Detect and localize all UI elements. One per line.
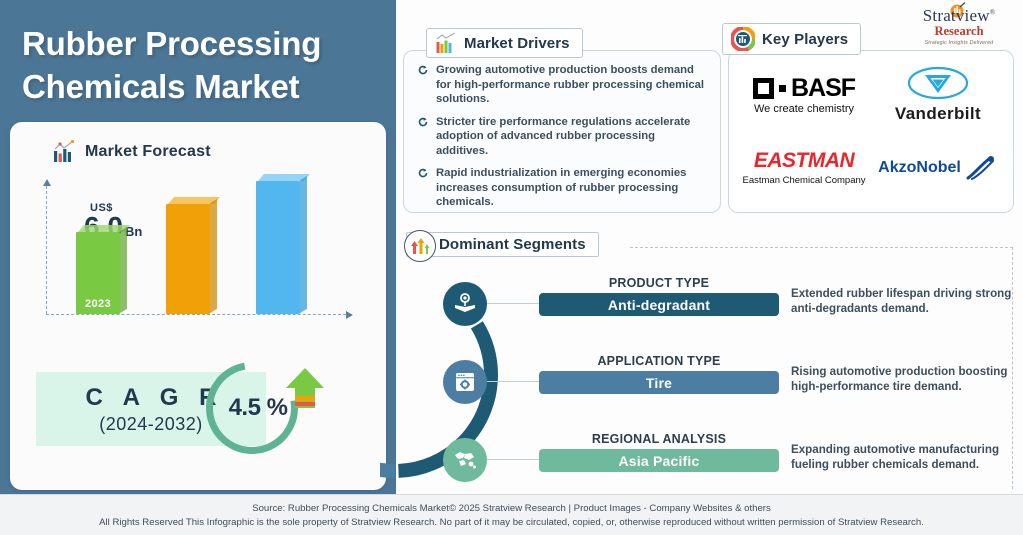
settings-window-icon [443, 360, 487, 404]
brand-sub: Research [903, 24, 1015, 39]
chart-bar-mid [166, 204, 210, 314]
growth-arrows-glyph [410, 237, 430, 255]
world-map-glyph [451, 448, 479, 472]
refresh-bullet-icon [418, 65, 428, 75]
segment-value-pill[interactable]: Anti-degradant [539, 293, 779, 316]
segment-connector [487, 381, 539, 382]
key-players-badge-label: Key Players [762, 31, 848, 48]
basf-square-icon [753, 78, 774, 99]
bar-chart-colored-icon [435, 32, 457, 54]
market-drivers-badge-label: Market Drivers [464, 35, 570, 52]
segment-connector [487, 303, 539, 304]
segment-label: REGIONAL ANALYSIS [539, 432, 779, 446]
forecast-chart: US$ 6.0 Bn 2023 [32, 180, 362, 340]
segment-connector [487, 459, 539, 460]
market-drivers-badge[interactable]: Market Drivers [426, 28, 583, 58]
world-map-icon [443, 438, 487, 482]
footer-source: Source: Rubber Processing Chemicals Mark… [252, 503, 771, 514]
bar-side-face [210, 199, 217, 313]
vanderbilt-wordmark: Vanderbilt [895, 104, 981, 124]
bar-chart-icon [52, 140, 76, 164]
logo-eastman: EASTMAN Eastman Chemical Company [737, 132, 871, 205]
dominant-segments-badge-label: Dominant Segments [439, 236, 586, 253]
cagr-label: C A G R [79, 384, 224, 412]
eastman-tagline: Eastman Chemical Company [742, 175, 865, 186]
basf-dot-icon [779, 85, 786, 92]
market-forecast-card: Market Forecast US$ 6.0 Bn 2023 [10, 122, 386, 490]
akzonobel-figure-icon [964, 154, 998, 182]
up-arrow-icon [284, 366, 326, 426]
chart-bar-2023: 2023 [76, 232, 120, 314]
driver-text: Rapid industrialization in emerging econ… [436, 166, 708, 210]
driver-text: Growing automotive production boosts dem… [436, 63, 708, 107]
driver-item: Stricter tire performance regulations ac… [418, 115, 708, 159]
basf-tagline: We create chemistry [754, 103, 854, 115]
settings-window-glyph [453, 370, 477, 394]
logo-vanderbilt: Vanderbilt [871, 59, 1005, 132]
chart-bar-final [256, 181, 300, 314]
footer-rights: All Rights Reserved This Infographic is … [99, 517, 924, 528]
eastman-wordmark: EASTMAN [754, 149, 854, 173]
stratview-logo: Stratview® Research Strategic Insights D… [903, 6, 1015, 46]
chemistry-flask-icon [443, 282, 487, 326]
dominant-segments-region: PRODUCT TYPE Anti-degradant Extended rub… [403, 226, 1017, 492]
registered-mark: ® [990, 8, 996, 16]
growth-arrows-icon [404, 230, 436, 262]
cagr-block: C A G R (2024-2032) 4.5 % [36, 360, 366, 460]
logo-akzonobel: AkzoNobel [871, 132, 1005, 205]
key-players-card: BASF We create chemistry Vanderbilt EAST… [728, 50, 1014, 213]
title-line-1: Rubber Processing [22, 22, 382, 65]
segment-description: Expanding automotive manufacturing fueli… [791, 442, 1023, 472]
title-line-2: Chemicals Market [22, 65, 382, 108]
segment-label: PRODUCT TYPE [539, 276, 779, 290]
akzonobel-wordmark: AkzoNobel [878, 159, 961, 177]
chart-y-axis [46, 186, 47, 314]
chart-x-axis [46, 314, 346, 315]
driver-item: Growing automotive production boosts dem… [418, 63, 708, 107]
brand-name: Stratview® [903, 6, 1015, 26]
bar-side-face [300, 176, 307, 313]
infographic-canvas: Rubber Processing Chemicals Market Strat… [0, 0, 1023, 535]
page-title: Rubber Processing Chemicals Market [22, 22, 382, 108]
market-forecast-title: Market Forecast [85, 143, 211, 161]
logo-basf: BASF We create chemistry [737, 59, 871, 132]
segment-description: Rising automotive production boosting hi… [791, 364, 1023, 394]
driver-text: Stricter tire performance regulations ac… [436, 115, 708, 159]
key-players-logo-grid: BASF We create chemistry Vanderbilt EAST… [737, 59, 1005, 204]
cagr-period: (2024-2032) [99, 414, 203, 435]
chemistry-flask-glyph [452, 291, 478, 317]
refresh-bullet-icon [418, 117, 428, 127]
basf-wordmark: BASF [791, 76, 855, 101]
segment-description: Extended rubber lifespan driving strong … [791, 286, 1023, 316]
market-drivers-list: Growing automotive production boosts dem… [418, 63, 708, 218]
brand-tagline: Strategic Insights Delivered [903, 40, 1015, 46]
vanderbilt-mark-icon [899, 66, 977, 102]
segment-value-pill[interactable]: Asia Pacific [539, 449, 779, 472]
key-players-badge[interactable]: Key Players [722, 23, 861, 55]
segment-value-pill[interactable]: Tire [539, 371, 779, 394]
market-forecast-header: Market Forecast [52, 140, 211, 164]
basf-lockup: BASF [753, 76, 855, 101]
driver-item: Rapid industrialization in emerging econ… [418, 166, 708, 210]
segment-label: APPLICATION TYPE [539, 354, 779, 368]
bar-year-label: 2023 [76, 298, 120, 310]
bar-side-face [120, 227, 127, 313]
market-drivers-card: Growing automotive production boosts dem… [403, 50, 721, 213]
refresh-bullet-icon [418, 168, 428, 178]
bank-circle-icon [731, 27, 755, 51]
footer: Source: Rubber Processing Chemicals Mark… [0, 494, 1023, 535]
